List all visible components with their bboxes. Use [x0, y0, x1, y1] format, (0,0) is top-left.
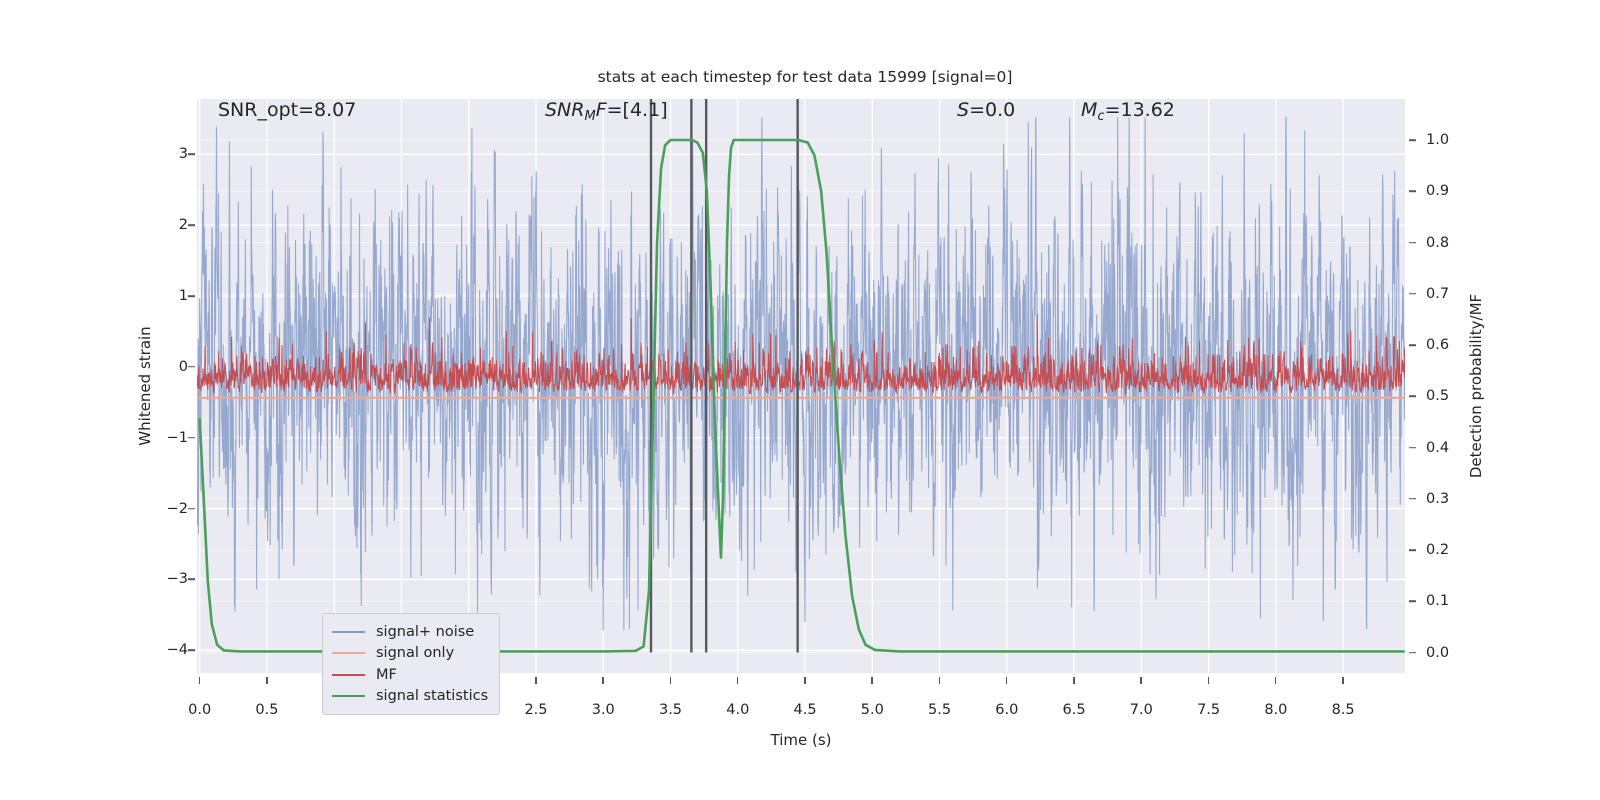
y-tick-mark-right: [1409, 652, 1416, 654]
y-tick-label-right: 1.0: [1426, 132, 1449, 148]
legend-item-label: signal+ noise: [376, 624, 474, 640]
x-tick-mark: [602, 677, 604, 684]
x-tick-label: 5.5: [928, 702, 951, 718]
y-tick-mark-left: [188, 295, 195, 297]
y-tick-label-right: 0.6: [1426, 337, 1449, 353]
y-tick-mark-right: [1409, 447, 1416, 449]
legend-item[interactable]: signal only: [332, 643, 488, 665]
y-tick-label-left: −3: [167, 571, 188, 587]
page-title: stats at each timestep for test data 159…: [0, 68, 1600, 86]
y-tick-mark-left: [188, 579, 195, 581]
y-tick-mark-right: [1409, 344, 1416, 346]
y-tick-mark-left: [188, 437, 195, 439]
x-tick-label: 0.0: [188, 702, 211, 718]
x-tick-mark: [804, 677, 806, 684]
y-tick-label-left: −4: [167, 642, 188, 658]
x-tick-mark: [939, 677, 941, 684]
x-tick-mark: [266, 677, 268, 684]
y-tick-mark-right: [1409, 549, 1416, 551]
y-tick-label-left: 3: [179, 146, 188, 162]
y-tick-mark-left: [188, 366, 195, 368]
x-tick-mark: [1342, 677, 1344, 684]
x-tick-mark: [1006, 677, 1008, 684]
plot-axes: [197, 99, 1405, 673]
y-tick-mark-right: [1409, 498, 1416, 500]
y-tick-mark-left: [188, 508, 195, 510]
legend-item[interactable]: signal+ noise: [332, 621, 488, 643]
y-tick-label-left: 0: [179, 359, 188, 375]
x-tick-label: 3.0: [592, 702, 615, 718]
x-tick-label: 5.0: [861, 702, 884, 718]
legend: signal+ noisesignal onlyMFsignal statist…: [322, 613, 500, 715]
y-tick-mark-right: [1409, 242, 1416, 244]
legend-color-swatch: [332, 674, 365, 676]
legend-item-label: MF: [376, 667, 397, 683]
y-tick-mark-left: [188, 153, 195, 155]
y-tick-label-left: 2: [179, 217, 188, 233]
x-tick-mark: [871, 677, 873, 684]
y-tick-label-left: −1: [167, 430, 188, 446]
y-tick-mark-right: [1409, 190, 1416, 192]
plot-canvas: [197, 99, 1405, 673]
x-tick-label: 0.5: [255, 702, 278, 718]
y-tick-mark-left: [188, 224, 195, 226]
x-tick-mark: [670, 677, 672, 684]
y-tick-label-right: 0.8: [1426, 235, 1449, 251]
x-tick-label: 3.5: [659, 702, 682, 718]
x-tick-mark: [535, 677, 537, 684]
y-tick-label-right: 0.9: [1426, 183, 1449, 199]
y-axis-label-left: Whitened strain: [136, 326, 154, 445]
x-tick-label: 7.0: [1130, 702, 1153, 718]
matplotlib-figure: stats at each timestep for test data 159…: [0, 0, 1600, 800]
x-tick-mark: [737, 677, 739, 684]
x-tick-label: 2.5: [524, 702, 547, 718]
legend-color-swatch: [332, 652, 365, 654]
x-tick-label: 6.0: [995, 702, 1018, 718]
y-tick-label-right: 0.2: [1426, 542, 1449, 558]
y-tick-label-right: 0.5: [1426, 388, 1449, 404]
x-tick-label: 4.0: [726, 702, 749, 718]
x-axis-label: Time (s): [197, 731, 1405, 749]
y-tick-label-right: 0.0: [1426, 645, 1449, 661]
legend-item-label: signal statistics: [376, 688, 488, 704]
x-tick-label: 7.5: [1197, 702, 1220, 718]
y-tick-label-left: 1: [179, 288, 188, 304]
y-axis-label-right: Detection probability/MF: [1467, 294, 1485, 478]
x-tick-mark: [199, 677, 201, 684]
y-tick-mark-right: [1409, 293, 1416, 295]
x-tick-mark: [1208, 677, 1210, 684]
x-tick-mark: [1073, 677, 1075, 684]
y-tick-mark-right: [1409, 600, 1416, 602]
y-tick-mark-right: [1409, 395, 1416, 397]
y-tick-label-left: −2: [167, 501, 188, 517]
legend-item-label: signal only: [376, 645, 454, 661]
legend-item[interactable]: MF: [332, 664, 488, 686]
x-tick-label: 4.5: [794, 702, 817, 718]
y-tick-label-right: 0.3: [1426, 491, 1449, 507]
x-tick-mark: [1140, 677, 1142, 684]
x-tick-label: 6.5: [1063, 702, 1086, 718]
legend-item[interactable]: signal statistics: [332, 686, 488, 708]
y-tick-mark-right: [1409, 139, 1416, 141]
x-tick-mark: [1275, 677, 1277, 684]
y-tick-label-right: 0.1: [1426, 593, 1449, 609]
legend-color-swatch: [332, 695, 365, 697]
y-tick-mark-left: [188, 650, 195, 652]
y-tick-label-right: 0.7: [1426, 286, 1449, 302]
x-tick-label: 8.5: [1332, 702, 1355, 718]
legend-color-swatch: [332, 631, 365, 633]
y-tick-label-right: 0.4: [1426, 440, 1449, 456]
figure-title-text: stats at each timestep for test data 159…: [598, 68, 1013, 86]
x-tick-label: 8.0: [1264, 702, 1287, 718]
